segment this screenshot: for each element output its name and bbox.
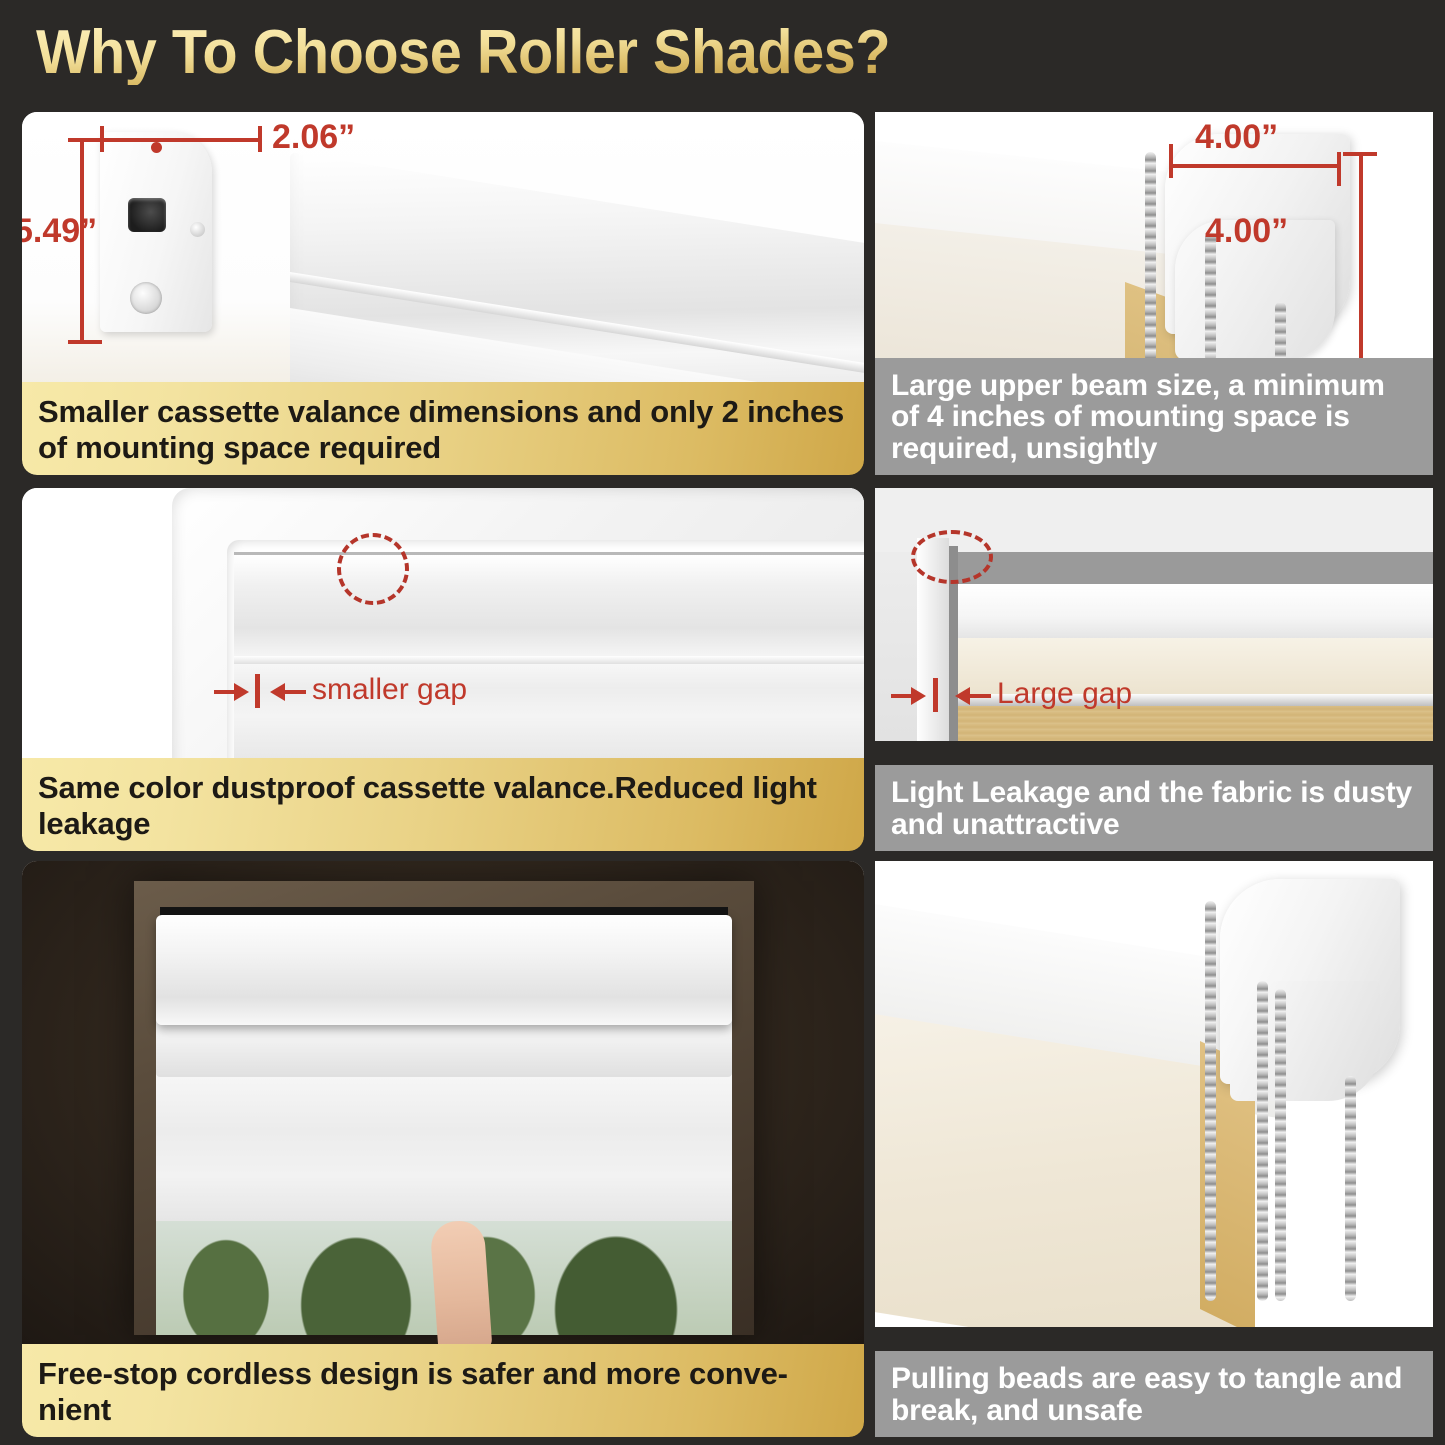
hand-pulling-shade xyxy=(430,1219,493,1345)
gap-marker-bar xyxy=(933,678,938,712)
roller-shade-fabric xyxy=(156,1071,732,1221)
window-frame xyxy=(134,881,754,1335)
beam-width-tick-right xyxy=(1337,152,1341,186)
panel-light-leakage-dusty-fabric: Large gap Light Leakage and the fabric i… xyxy=(875,488,1433,851)
photo-large-gap-leakage: Large gap xyxy=(875,488,1433,741)
photo-window-smaller-gap: smaller gap xyxy=(22,488,864,759)
caption-dustproof-cassette-valance: Same color dustproof cassette valance.Re… xyxy=(22,758,864,851)
gap-arrow-stem-left xyxy=(891,694,913,698)
panel-free-stop-cordless-design: Free-stop cordless design is safer and m… xyxy=(22,861,864,1437)
bracket-slot xyxy=(128,198,166,232)
panel-cassette-valance-dimensions: 2.06” 5.49” Smaller cassette valance dim… xyxy=(22,112,864,475)
caption-free-stop-cordless-design: Free-stop cordless design is safer and m… xyxy=(22,1344,864,1437)
photo-room-window-shade xyxy=(22,861,864,1345)
beam-width-label: 4.00” xyxy=(1195,118,1278,157)
width-dimension-line xyxy=(100,138,262,142)
photo-bead-chain-shade xyxy=(875,861,1433,1327)
infographic-page: Why To Choose Roller Shades? 2.06” xyxy=(0,0,1445,1445)
height-tick-bottom xyxy=(68,340,102,344)
height-dimension-label: 5.49” xyxy=(22,212,97,251)
caption-large-upper-beam: Large upper beam size, a minimum of 4 in… xyxy=(875,358,1433,475)
cassette-valance xyxy=(156,915,732,1025)
bead-chain-mid-a xyxy=(1257,981,1268,1301)
panel-large-upper-beam: 4.00” 4.00” Large upper beam size, a min… xyxy=(875,112,1433,475)
width-tick-right xyxy=(258,126,262,152)
panel-pulling-beads-unsafe: Pulling beads are easy to tangle and bre… xyxy=(875,861,1433,1437)
gap-marker-bar xyxy=(255,674,260,708)
cassette-valance xyxy=(234,552,864,660)
tan-fabric xyxy=(953,706,1433,741)
width-dimension-label: 2.06” xyxy=(272,118,355,157)
bead-chain-mid xyxy=(1205,232,1216,362)
comparison-grid: 2.06” 5.49” Smaller cassette valance dim… xyxy=(0,104,1445,1445)
beam-width-tick-left xyxy=(1169,144,1173,178)
gap-arrow-right-icon xyxy=(911,687,926,705)
bead-chain-left xyxy=(1205,901,1216,1301)
beam-height-tick-top xyxy=(1343,152,1377,156)
photo-cassette-valance-closeup: 2.06” 5.49” xyxy=(22,112,864,383)
caption-cassette-valance-dimensions: Smaller cassette valance dimensions and … xyxy=(22,382,864,475)
gap-highlight-circle-icon xyxy=(337,533,409,605)
roller-bracket-lower xyxy=(1230,981,1380,1101)
bead-chain-right xyxy=(1345,1076,1356,1301)
caption-pulling-beads-unsafe: Pulling beads are easy to tangle and bre… xyxy=(875,1351,1433,1437)
panel-dustproof-cassette-valance: smaller gap Same color dustproof cassett… xyxy=(22,488,864,851)
gap-arrow-stem-left xyxy=(214,690,236,694)
page-title: Why To Choose Roller Shades? xyxy=(36,20,890,85)
gap-arrow-right-icon xyxy=(234,683,249,701)
gap-highlight-ellipse-icon xyxy=(911,530,993,584)
beam-height-label: 4.00” xyxy=(1205,212,1288,251)
smaller-gap-label: smaller gap xyxy=(312,673,467,707)
photo-large-beam-bracket: 4.00” 4.00” xyxy=(875,112,1433,365)
gap-arrow-left-icon xyxy=(270,683,285,701)
measure-origin-dot xyxy=(151,142,162,153)
height-tick-top xyxy=(68,138,102,142)
bead-chain-left xyxy=(1145,152,1156,362)
bead-chain-right xyxy=(1275,302,1286,364)
gap-arrow-stem-right xyxy=(284,690,306,694)
bead-chain-mid-b xyxy=(1275,989,1286,1301)
caption-light-leakage-dusty-fabric: Light Leakage and the fabric is dusty an… xyxy=(875,765,1433,851)
gap-arrow-left-icon xyxy=(955,687,970,705)
beam-height-line xyxy=(1359,152,1363,362)
gap-arrow-stem-right xyxy=(969,694,991,698)
screw-lower xyxy=(130,282,162,314)
beam-width-line xyxy=(1171,164,1341,168)
screw-upper xyxy=(190,222,205,237)
large-gap-label: Large gap xyxy=(997,677,1132,711)
